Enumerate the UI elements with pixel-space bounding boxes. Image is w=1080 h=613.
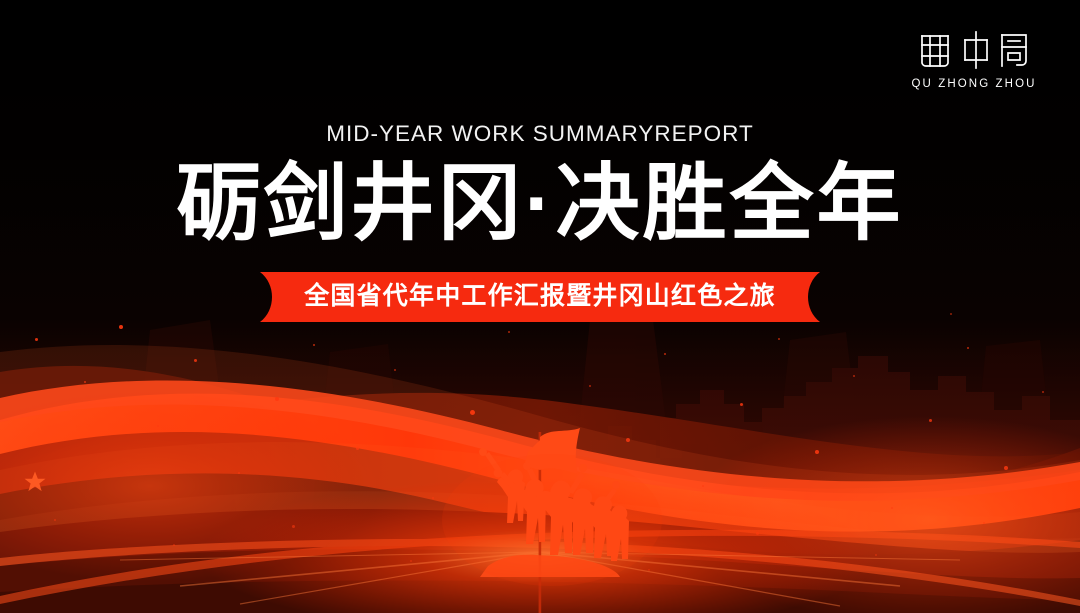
headline-block: MID-YEAR WORK SUMMARYREPORT 砺剑井冈·决胜全年 bbox=[0, 122, 1080, 247]
logo-mark-icon bbox=[918, 30, 1030, 70]
eyebrow-subtitle: MID-YEAR WORK SUMMARYREPORT bbox=[0, 122, 1080, 147]
brand-logo[interactable]: QU ZHONG ZHOU bbox=[906, 30, 1042, 91]
ribbon-label: 全国省代年中工作汇报暨井冈山红色之旅 bbox=[260, 272, 820, 322]
title-slide: QU ZHONG ZHOU MID-YEAR WORK SUMMARYREPOR… bbox=[0, 0, 1080, 613]
page-title: 砺剑井冈·决胜全年 bbox=[0, 159, 1080, 247]
logo-romanization: QU ZHONG ZHOU bbox=[906, 79, 1042, 91]
subtitle-ribbon-banner: 全国省代年中工作汇报暨井冈山红色之旅 bbox=[260, 272, 820, 322]
